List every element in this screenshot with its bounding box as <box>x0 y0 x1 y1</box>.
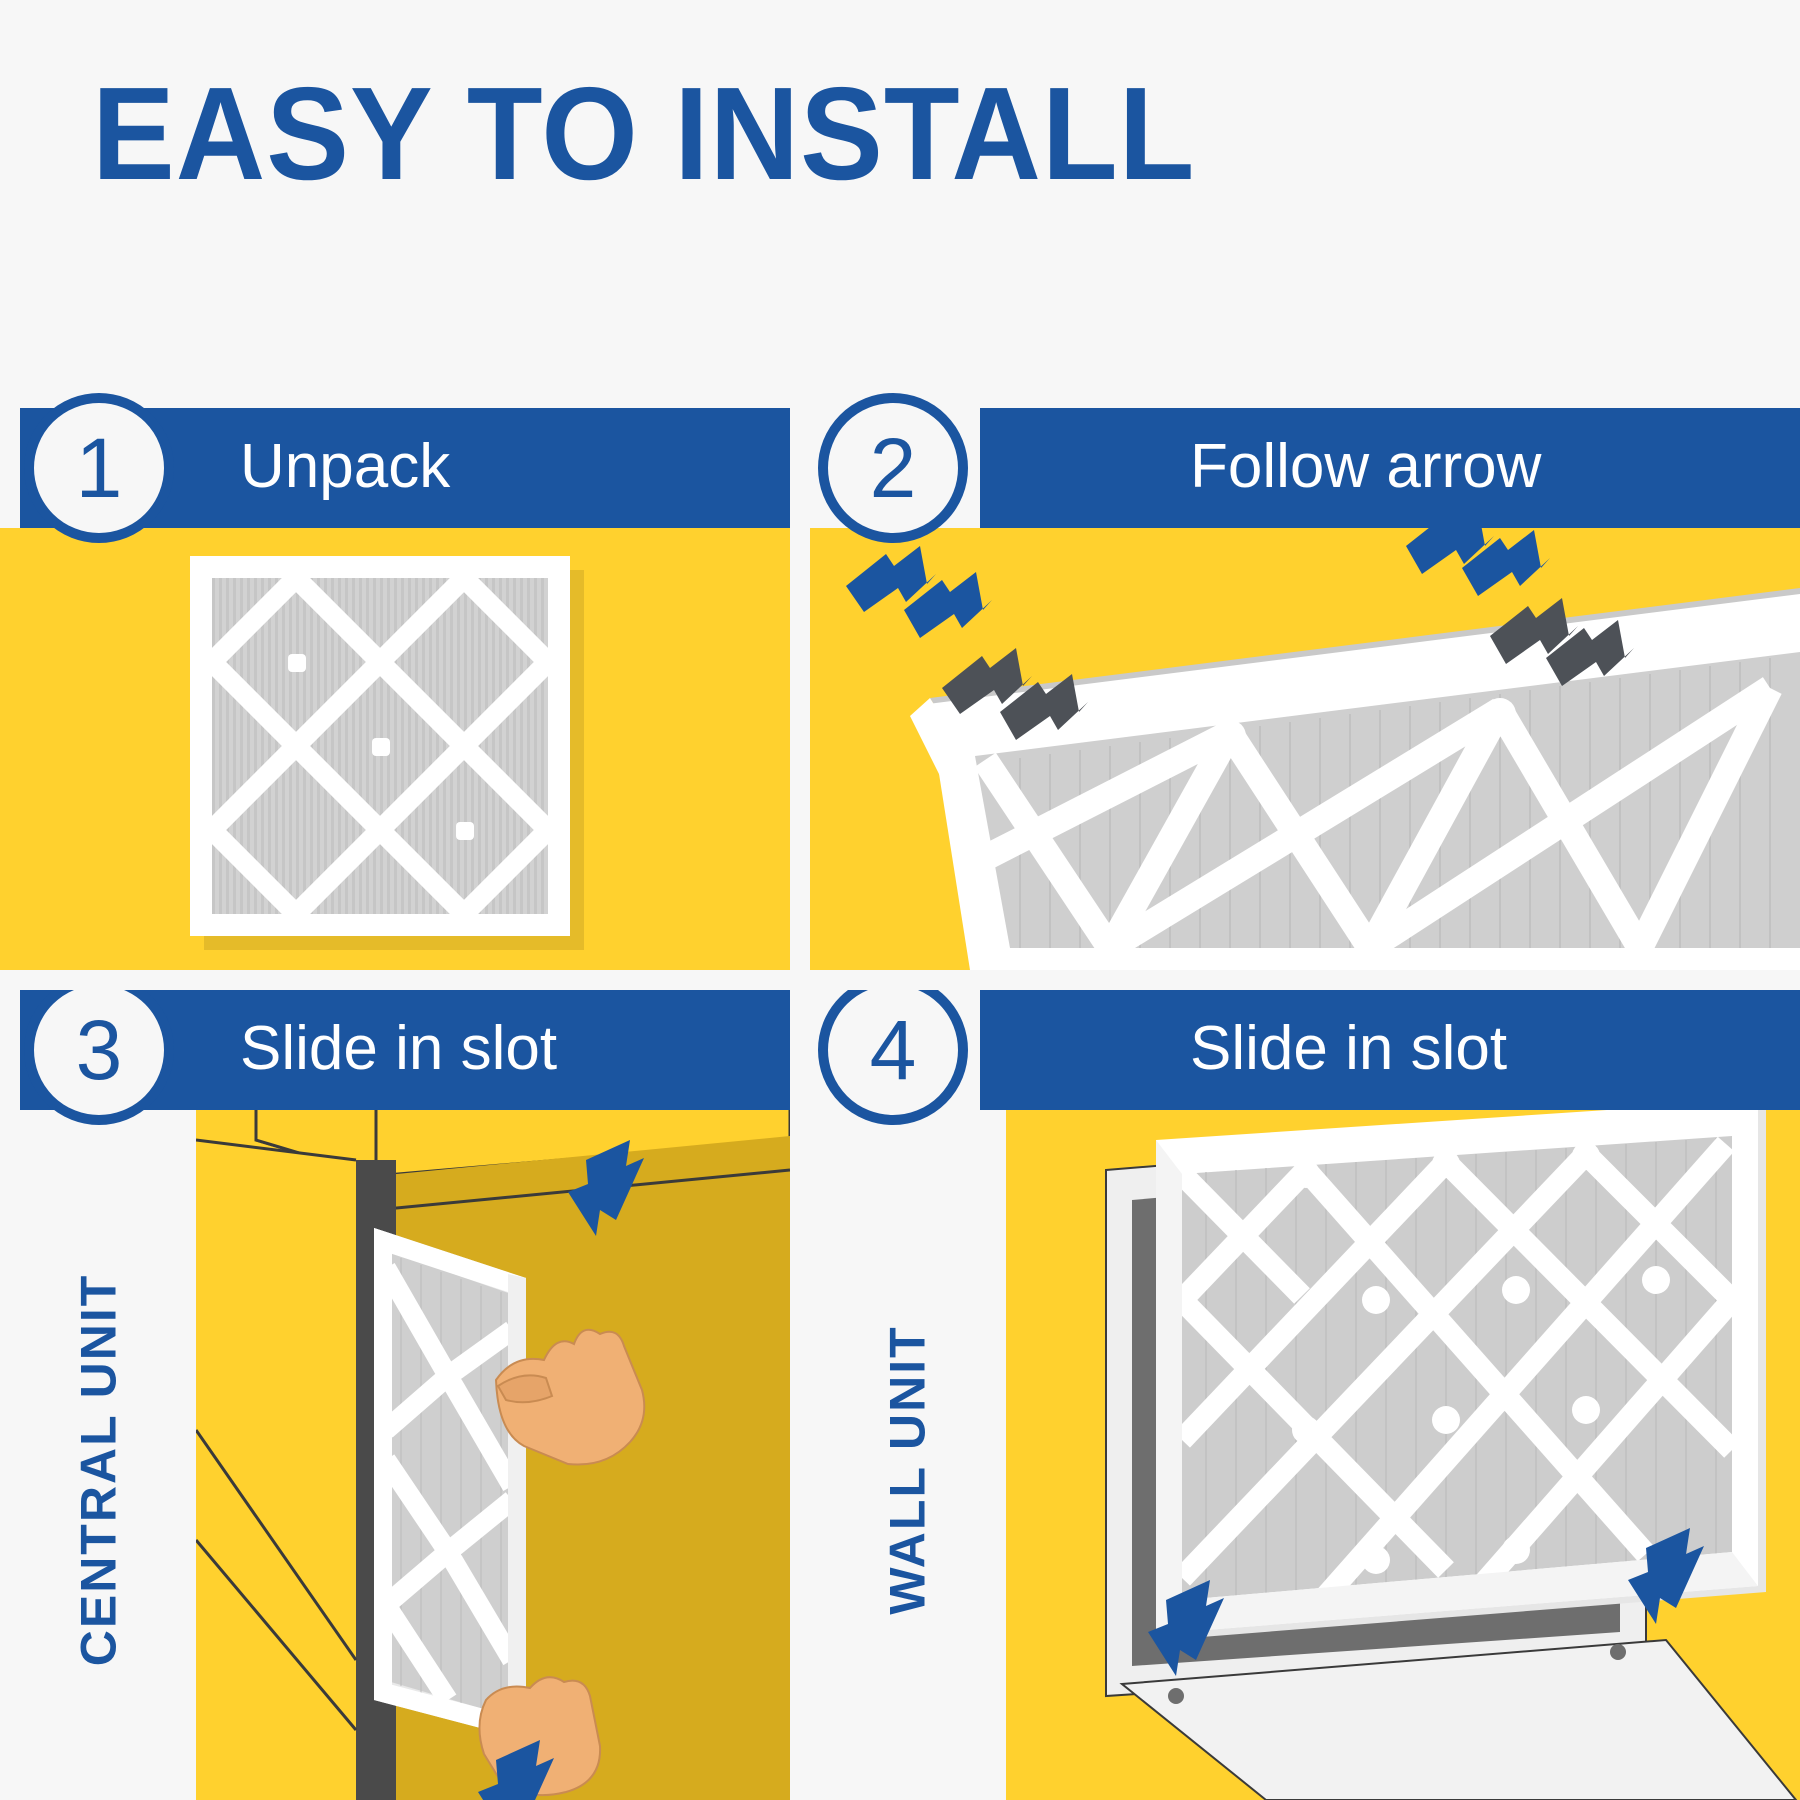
air-filter-inserting <box>374 1228 526 1740</box>
filter-media <box>212 578 548 914</box>
steps-grid: Unpack 1 <box>0 380 1800 1800</box>
step-2-number-badge: 2 <box>818 393 968 543</box>
step-3-side-label: CENTRAL UNIT <box>69 1274 127 1667</box>
step-4-side-label-wrap: WALL UNIT <box>810 1150 1006 1790</box>
step-2-illustration <box>810 528 1800 970</box>
step-1-number-badge: 1 <box>24 393 174 543</box>
step-2-header-bar: Follow arrow <box>980 408 1800 528</box>
step-card-1[interactable]: Unpack 1 <box>0 380 790 970</box>
infographic-page: EASY TO INSTALL <box>0 0 1800 1800</box>
angled-filter-graphic <box>810 528 1800 970</box>
screw-hole-icon <box>1168 1688 1184 1704</box>
step-3-side-label-wrap: CENTRAL UNIT <box>0 1150 196 1790</box>
step-4-header-bar: Slide in slot <box>980 990 1800 1110</box>
step-4-illustration <box>1006 1100 1800 1800</box>
airflow-arrow-blue-right <box>1406 528 1550 596</box>
step-card-4[interactable]: WALL UNIT Slide in slot 4 <box>810 990 1800 1800</box>
screw-hole-icon <box>1610 1644 1626 1660</box>
step-card-2[interactable]: Follow arrow 2 <box>810 380 1800 970</box>
step-card-3[interactable]: CENTRAL UNIT Slide in slot 3 <box>0 990 790 1800</box>
wall-unit-scene <box>1006 1100 1800 1800</box>
step-1-illustration <box>0 528 790 970</box>
filter-mesh-icon <box>212 578 548 914</box>
step-3-label: Slide in slot <box>240 1013 557 1084</box>
step-4-label: Slide in slot <box>1190 1013 1507 1084</box>
air-filter-flat <box>190 556 570 936</box>
airflow-arrow-blue-left <box>846 546 992 638</box>
page-title: EASY TO INSTALL <box>92 68 1195 200</box>
central-unit-scene <box>196 1100 790 1800</box>
step-2-label: Follow arrow <box>1190 431 1541 502</box>
step-4-number-badge: 4 <box>818 990 968 1125</box>
step-3-illustration <box>196 1100 790 1800</box>
step-4-side-label: WALL UNIT <box>879 1325 937 1614</box>
step-1-label: Unpack <box>240 431 450 502</box>
